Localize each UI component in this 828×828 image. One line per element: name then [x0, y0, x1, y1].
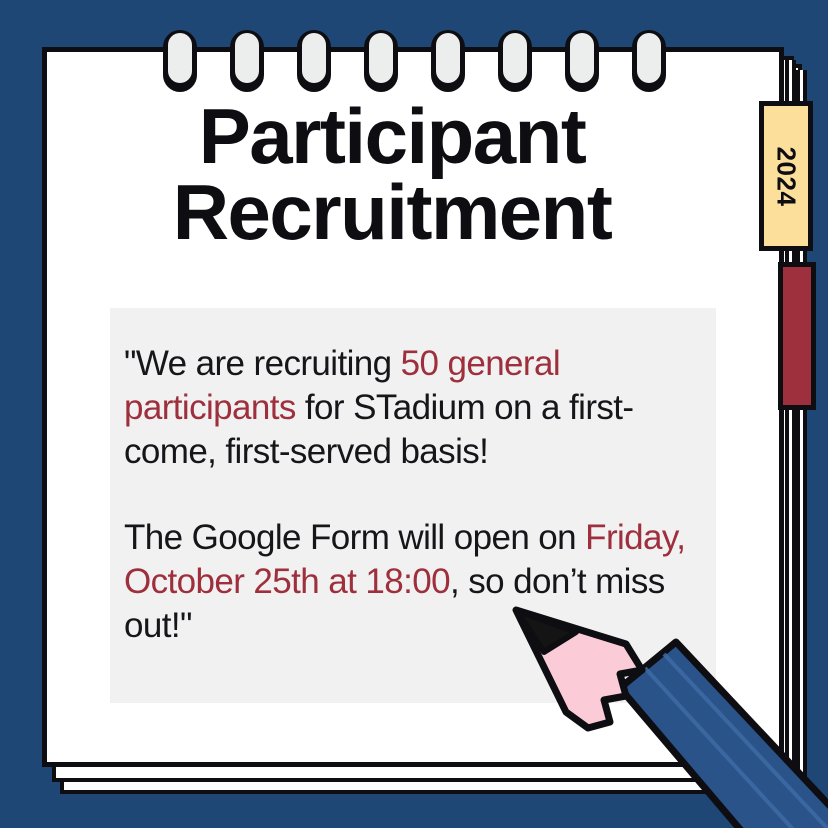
text-run-0: "We are recruiting [124, 344, 401, 383]
text-run-0: The Google Form will open on [124, 518, 585, 557]
poster-canvas: Participant Recruitment "We are recruiti… [0, 0, 828, 828]
body-copy: "We are recruiting 50 general participan… [124, 342, 724, 649]
year-tab-label: 2024 [771, 146, 802, 206]
title-line-2: Recruitment [42, 174, 742, 250]
paragraph-spacer [124, 474, 724, 516]
red-tab[interactable] [778, 262, 816, 410]
paragraph-1: "We are recruiting 50 general participan… [124, 342, 724, 474]
year-tab[interactable]: 2024 [759, 101, 813, 251]
page-title: Participant Recruitment [42, 98, 742, 251]
paragraph-2: The Google Form will open on Friday, Oct… [124, 516, 724, 648]
title-line-1: Participant [199, 92, 586, 180]
